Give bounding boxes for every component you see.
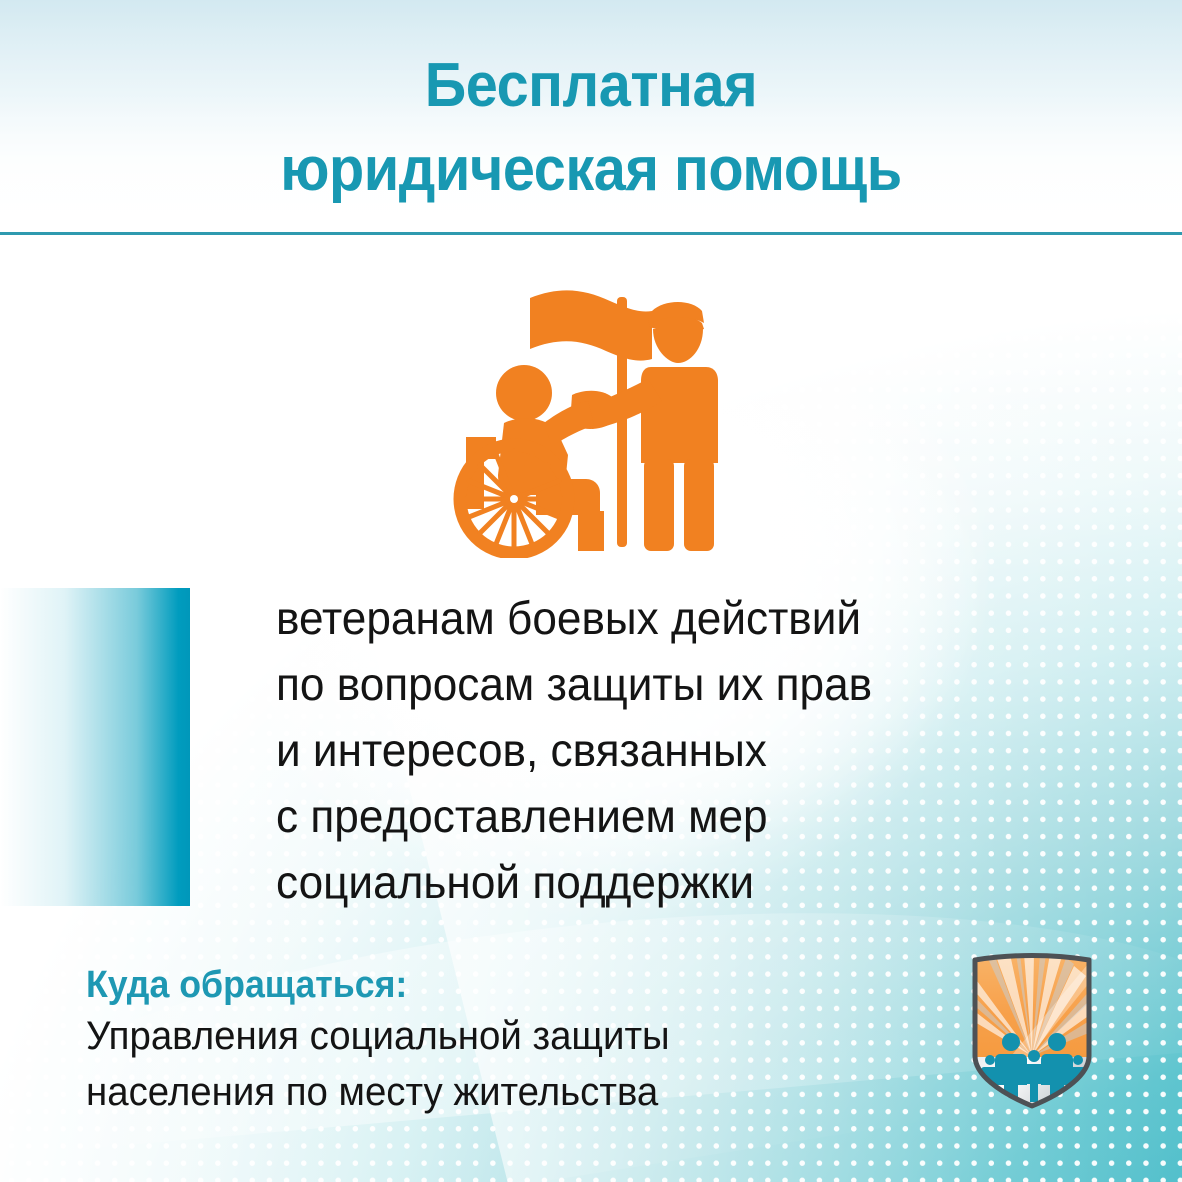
body-line: с предоставлением мер (276, 783, 938, 849)
contact-heading: Куда обращаться: (86, 962, 763, 1008)
contact-block: Куда обращаться: Управления социальной з… (86, 962, 806, 1120)
body-line: социальной поддержки (276, 849, 938, 915)
infographic-poster: Бесплатная юридическая помощь (0, 0, 1182, 1182)
page-title-line-1: Бесплатная (41, 44, 1140, 128)
body-line: ветеранам боевых действий (276, 585, 938, 651)
body-line: и интересов, связанных (276, 717, 938, 783)
contact-line: Управления социальной защиты (86, 1008, 777, 1064)
page-title-line-2: юридическая помощь (41, 128, 1140, 212)
contact-line: населения по месту жительства (86, 1064, 777, 1120)
veteran-handshake-icon (452, 283, 720, 558)
body-line: по вопросам защиты их прав (276, 651, 938, 717)
body-text-block: ветеранам боевых действий по вопросам за… (276, 585, 966, 915)
page-title: Бесплатная юридическая помощь (0, 44, 1182, 212)
header-divider (0, 232, 1182, 235)
teal-accent-block (0, 588, 190, 906)
social-protection-shield-logo (966, 952, 1098, 1110)
